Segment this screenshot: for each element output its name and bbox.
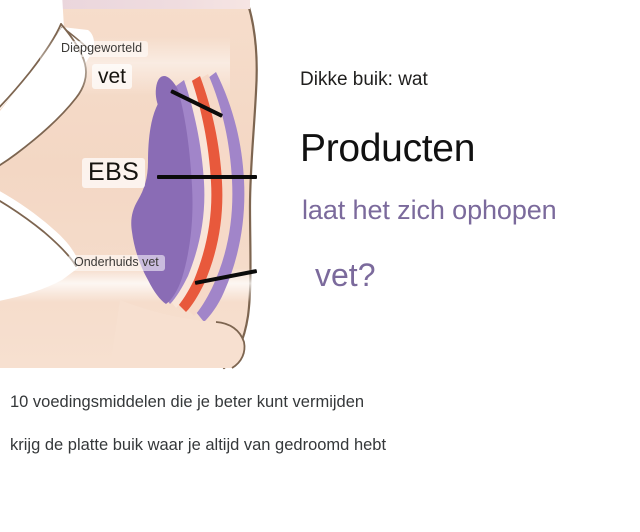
page-root: Diepgeworteld vet EBS Onderhuids vet Dik… — [0, 0, 640, 532]
abdominal-fat-illustration — [0, 0, 340, 372]
pointer-line-ebs — [157, 175, 257, 179]
caption-line-1: 10 voedingsmiddelen die je beter kunt ve… — [10, 393, 364, 411]
heading-tail: vet? — [315, 259, 375, 293]
label-deep-fat-big: vet — [92, 64, 132, 89]
caption-line-2: krijg de platte buik waar je altijd van … — [10, 436, 386, 454]
heading-subtitle: laat het zich ophopen — [302, 196, 557, 224]
illustration-svg — [0, 0, 340, 372]
heading-title: Producten — [300, 129, 475, 170]
label-deep-fat-small: Diepgeworteld — [55, 41, 148, 57]
label-ebs: EBS — [82, 158, 145, 188]
heading-eyebrow: Dikke buik: wat — [300, 70, 428, 90]
label-subcutaneous-fat: Onderhuids vet — [68, 255, 165, 271]
